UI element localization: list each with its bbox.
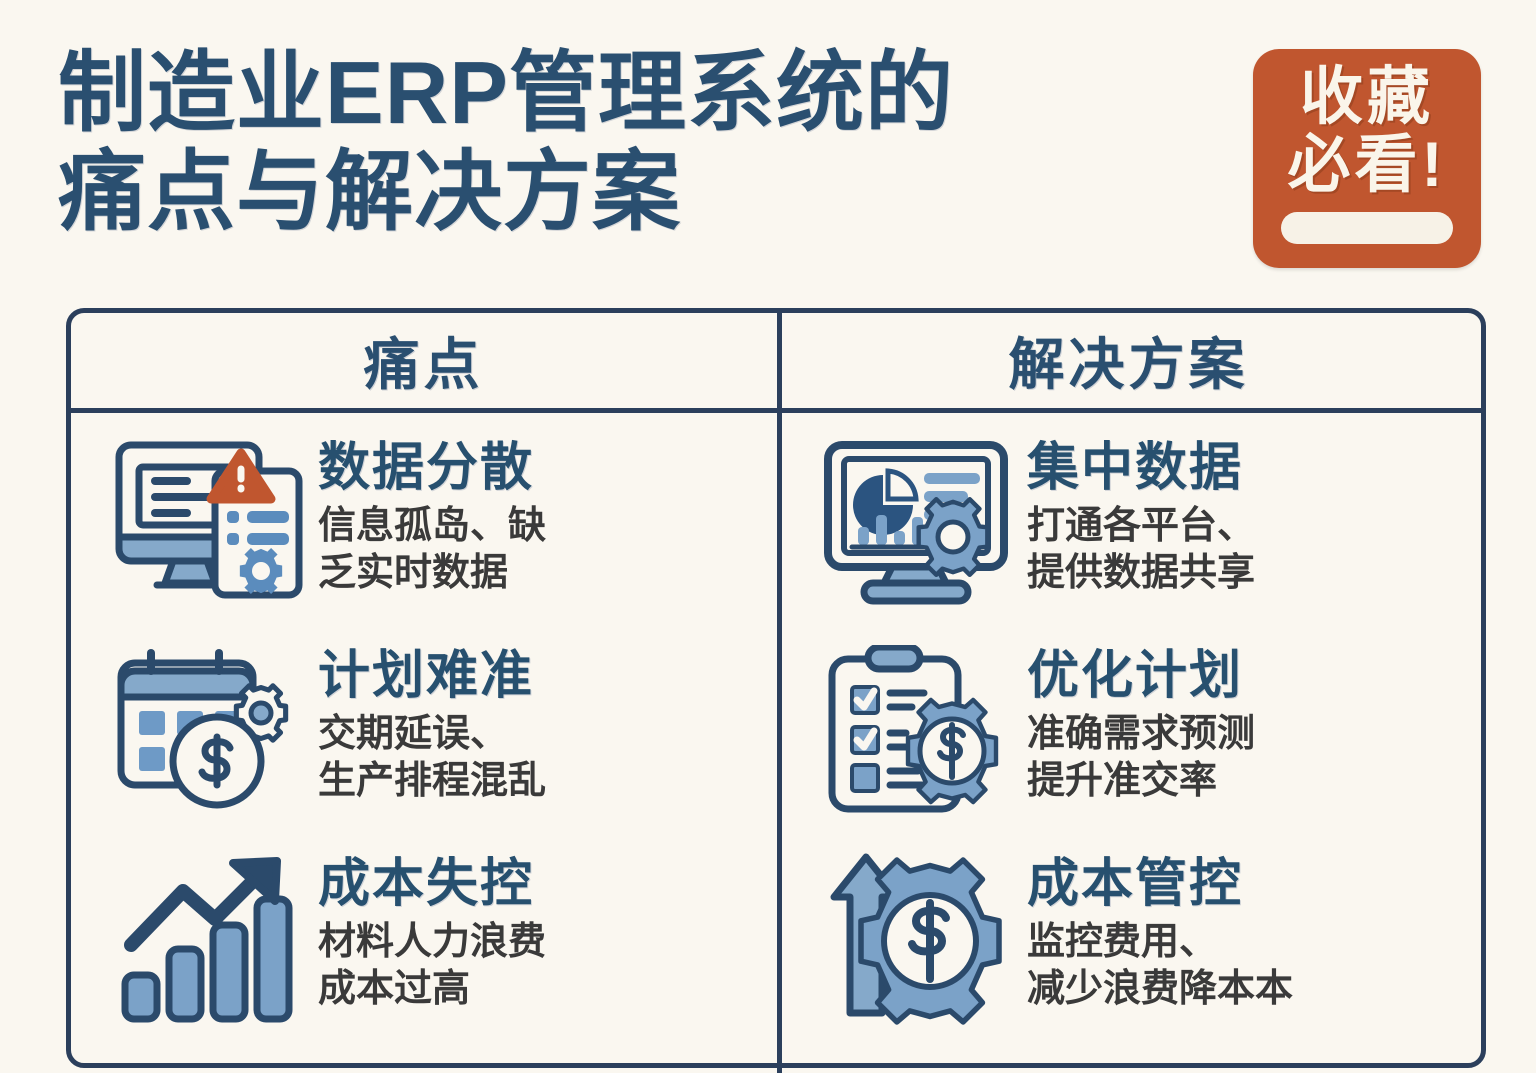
solutions-column: 集中数据 打通各平台、 提供数据共享 (772, 413, 1481, 1063)
badge-line-2: 必看! (1253, 133, 1481, 197)
column-header-pain-points: 痛点 (71, 313, 776, 408)
list-item-desc: 材料人力浪费 成本过高 (318, 919, 546, 1012)
monitor-document-warning-gear-icon (103, 431, 318, 609)
list-item-title: 集中数据 (1027, 439, 1255, 497)
list-item-text: 优化计划 准确需求预测 提升准交率 (1027, 639, 1255, 804)
list-item[interactable]: 数据分散 信息孤岛、缺 乏实时数据 (103, 431, 758, 639)
list-item[interactable]: 集中数据 打通各平台、 提供数据共享 (812, 431, 1467, 639)
list-item-desc: 打通各平台、 提供数据共享 (1027, 503, 1255, 596)
header: 制造业ERP管理系统的 痛点与解决方案 收藏 必看! (0, 0, 1536, 300)
list-item[interactable]: 计划难准 交期延误、 生产排程混乱 (103, 639, 758, 847)
column-divider (777, 308, 782, 1073)
pain-points-column: 数据分散 信息孤岛、缺 乏实时数据 (71, 413, 772, 1063)
badge-bookmark-bar (1281, 212, 1453, 244)
list-item[interactable]: 成本失控 材料人力浪费 成本过高 (103, 847, 758, 1067)
badge-line-1: 收藏 (1253, 65, 1481, 129)
list-item-title: 成本失控 (318, 855, 546, 913)
title-line-2: 痛点与解决方案 (58, 143, 1248, 242)
list-item-desc: 监控费用、 减少浪费降本本 (1027, 919, 1293, 1012)
table-header-row: 痛点 解决方案 (71, 313, 1481, 413)
list-item-text: 集中数据 打通各平台、 提供数据共享 (1027, 431, 1255, 596)
arrow-gear-dollar-icon (812, 847, 1027, 1025)
growth-bar-chart-arrow-icon (103, 847, 318, 1025)
list-item-text: 成本管控 监控费用、 减少浪费降本本 (1027, 847, 1293, 1012)
title-line-1: 制造业ERP管理系统的 (58, 44, 1248, 143)
list-item-title: 数据分散 (318, 439, 546, 497)
calendar-dollar-gear-icon (103, 639, 318, 817)
list-item-title: 优化计划 (1027, 647, 1255, 705)
list-item[interactable]: 成本管控 监控费用、 减少浪费降本本 (812, 847, 1467, 1067)
page-title: 制造业ERP管理系统的 痛点与解决方案 (58, 44, 1248, 241)
list-item-desc: 信息孤岛、缺 乏实时数据 (318, 503, 546, 596)
must-see-badge[interactable]: 收藏 必看! (1253, 49, 1481, 268)
column-header-solutions-label: 解决方案 (1009, 320, 1249, 401)
table-body-row: 数据分散 信息孤岛、缺 乏实时数据 (71, 413, 1481, 1063)
list-item-text: 计划难准 交期延误、 生产排程混乱 (318, 639, 546, 804)
monitor-dashboard-gear-icon (812, 431, 1027, 609)
comparison-table: 痛点 解决方案 (66, 308, 1486, 1068)
column-header-solutions: 解决方案 (776, 313, 1481, 408)
list-item-title: 计划难准 (318, 647, 546, 705)
column-header-pain-points-label: 痛点 (364, 320, 484, 401)
list-item-desc: 准确需求预测 提升准交率 (1027, 711, 1255, 804)
clipboard-checklist-gear-dollar-icon (812, 639, 1027, 817)
list-item-text: 数据分散 信息孤岛、缺 乏实时数据 (318, 431, 546, 596)
list-item-title: 成本管控 (1027, 855, 1293, 913)
list-item[interactable]: 优化计划 准确需求预测 提升准交率 (812, 639, 1467, 847)
list-item-text: 成本失控 材料人力浪费 成本过高 (318, 847, 546, 1012)
list-item-desc: 交期延误、 生产排程混乱 (318, 711, 546, 804)
